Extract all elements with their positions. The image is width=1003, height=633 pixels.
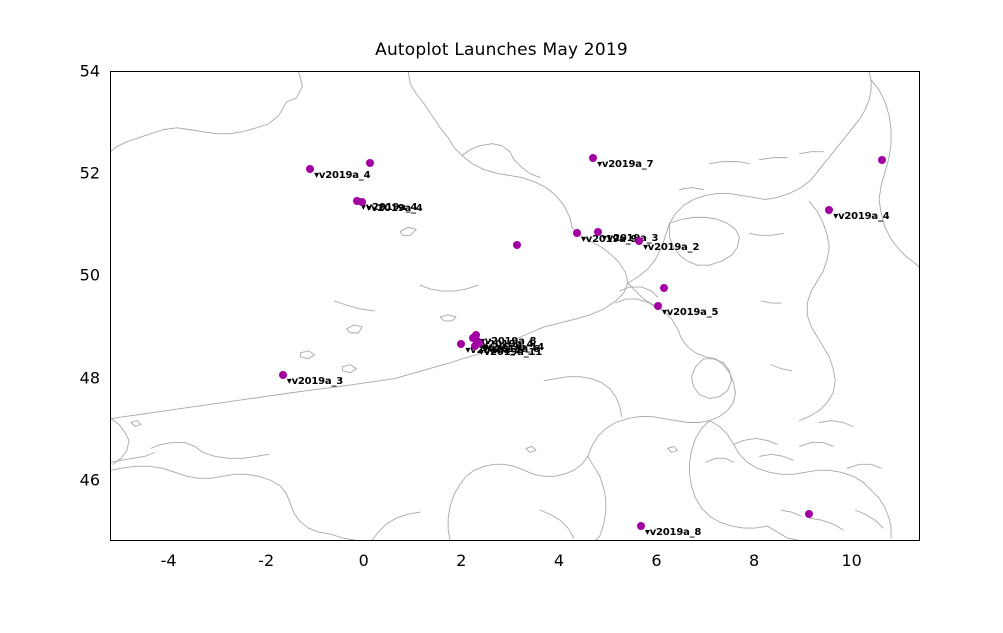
y-tick-label: 52 (80, 164, 100, 183)
y-tick-label: 50 (80, 266, 100, 285)
x-tick-label: 8 (749, 551, 759, 570)
y-tick-label: 48 (80, 368, 100, 387)
x-tick-label: 0 (359, 551, 369, 570)
x-tick-label: 10 (841, 551, 861, 570)
x-tick-label: 2 (456, 551, 466, 570)
x-tick-label: 4 (554, 551, 564, 570)
x-tick-label: -2 (258, 551, 274, 570)
y-tick-label: 54 (80, 62, 100, 81)
page-title: Autoplot Launches May 2019 (0, 40, 1003, 60)
figure-canvas: Autoplot Launches May 2019 (0, 0, 1003, 633)
axis-tick-labels: 4648505254-4-20246810 (110, 71, 920, 541)
x-tick-label: -4 (161, 551, 177, 570)
x-tick-label: 6 (651, 551, 661, 570)
y-tick-label: 46 (80, 470, 100, 489)
